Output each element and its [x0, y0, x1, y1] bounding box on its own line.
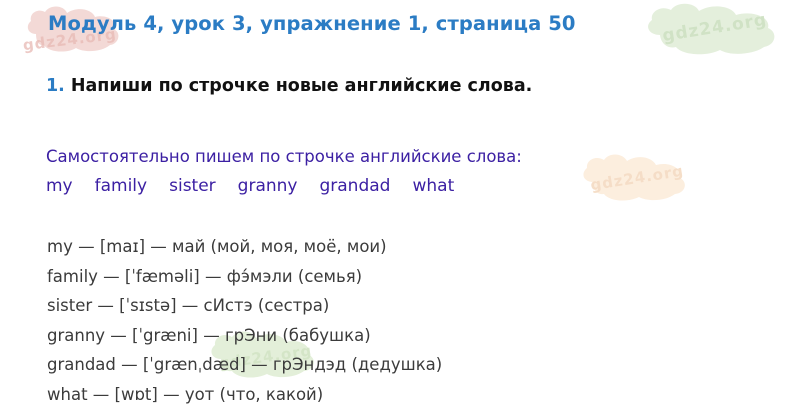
word-item: granny: [238, 176, 298, 196]
vocabulary-list: my — [maɪ] — май (мой, моя, моё, мои) fa…: [47, 232, 747, 409]
vocabulary-line: what — [wɒt] — уот (что, какой): [47, 380, 747, 410]
answer-heading: Самостоятельно пишем по строчке английск…: [46, 147, 522, 166]
vocabulary-line: sister — [ˈsɪstə] — сИстэ (сестра): [47, 291, 747, 321]
word-item: family: [95, 176, 147, 196]
vocabulary-line: grandad — [ˈgrænˌdæd] — грЭндэд (дедушка…: [47, 350, 747, 380]
task-instruction: 1.Напиши по строчке новые английские сло…: [46, 76, 532, 96]
answer-word-list: my family sister granny grandad what: [46, 176, 454, 196]
vocabulary-line: my — [maɪ] — май (мой, моя, моё, мои): [47, 232, 747, 262]
watermark-green-top-right-icon: gdz24.org: [640, 2, 790, 57]
word-item: what: [412, 176, 454, 196]
word-item: grandad: [319, 176, 390, 196]
page-title: Модуль 4, урок 3, упражнение 1, страница…: [48, 12, 576, 35]
word-item: sister: [169, 176, 216, 196]
word-item: my: [46, 176, 73, 196]
page-root: gdz24.org gdz24.org gdz24.org gdz24.org …: [0, 0, 800, 420]
vocabulary-line: granny — [ˈgræni] — грЭни (бабушка): [47, 321, 747, 351]
watermark-green-top-right-label: gdz24.org: [636, 0, 793, 66]
vocabulary-line: family — [ˈfæməli] — фэ́мэли (семья): [47, 262, 747, 292]
task-number: 1.: [46, 76, 65, 96]
task-instruction-text: Напиши по строчке новые английские слова…: [71, 76, 532, 96]
watermark-peach-label: gdz24.org: [575, 144, 699, 212]
watermark-peach-middle-icon: gdz24.org: [578, 152, 696, 202]
